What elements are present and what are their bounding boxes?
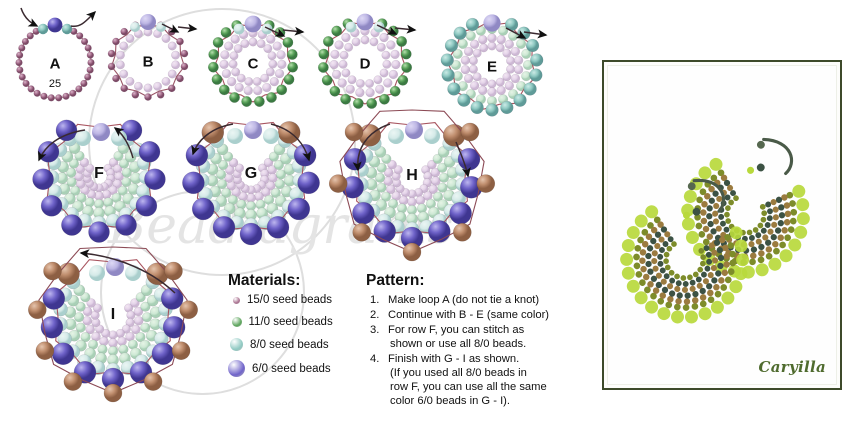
pattern-step-line: shown or use all 8/0 beads. — [390, 338, 526, 350]
pattern-step-line: row F, you can use all the same — [390, 381, 547, 393]
earring-illustration — [608, 66, 836, 384]
ring-label-g: G — [245, 165, 257, 183]
pattern-title: Pattern: — [366, 272, 425, 290]
legend-item-label: 8/0 seed beads — [250, 339, 329, 351]
ring-label-f: F — [94, 165, 104, 183]
pattern-step-number: 4. — [370, 353, 379, 365]
earring-photo-panel: Caryilla — [602, 60, 842, 390]
legend-item-3: 8/0 seed beads — [228, 338, 329, 351]
legend-item-label: 11/0 seed beads — [249, 316, 333, 328]
pattern-step-line: Make loop A (do not tie a knot) — [388, 294, 539, 306]
ring-label-i: I — [111, 306, 115, 324]
legend-item-4: 6/0 seed beads — [228, 360, 331, 377]
ring-label-d: D — [360, 56, 371, 73]
ring-label-a: A — [50, 56, 61, 73]
pattern-step-line: Continue with B - E (same color) — [388, 309, 549, 321]
pattern-step-number: 1. — [370, 294, 379, 306]
bead-swatch-icon — [230, 338, 243, 351]
pattern-step-line: Finish with G - I as shown. — [388, 353, 519, 365]
pattern-step-line: color 6/0 beads in G - I). — [390, 395, 510, 407]
bead-swatch-icon — [233, 297, 240, 304]
pattern-step-line: For row F, you can stitch as — [388, 324, 524, 336]
photo-signature: Caryilla — [759, 358, 827, 376]
materials-title: Materials: — [228, 272, 300, 290]
bead-swatch-icon — [232, 317, 242, 327]
ring-label-e: E — [487, 59, 497, 76]
earring-photo: Caryilla — [607, 65, 837, 385]
pattern-step-line: (If you used all 8/0 beads in — [390, 367, 527, 379]
legend-item-label: 15/0 seed beads — [247, 294, 332, 306]
legend-item-label: 6/0 seed beads — [252, 363, 331, 375]
diagram-canvas: Beadiagrams — [0, 0, 847, 435]
pattern-step-number: 3. — [370, 324, 379, 336]
legend-item-1: 15/0 seed beads — [228, 294, 332, 306]
ring-count-a: 25 — [49, 78, 61, 90]
ring-label-b: B — [143, 54, 154, 71]
ring-label-h: H — [406, 167, 418, 185]
bead-swatch-icon — [228, 360, 245, 377]
ring-label-c: C — [248, 56, 259, 73]
legend-item-2: 11/0 seed beads — [228, 316, 333, 328]
pattern-step-number: 2. — [370, 309, 379, 321]
